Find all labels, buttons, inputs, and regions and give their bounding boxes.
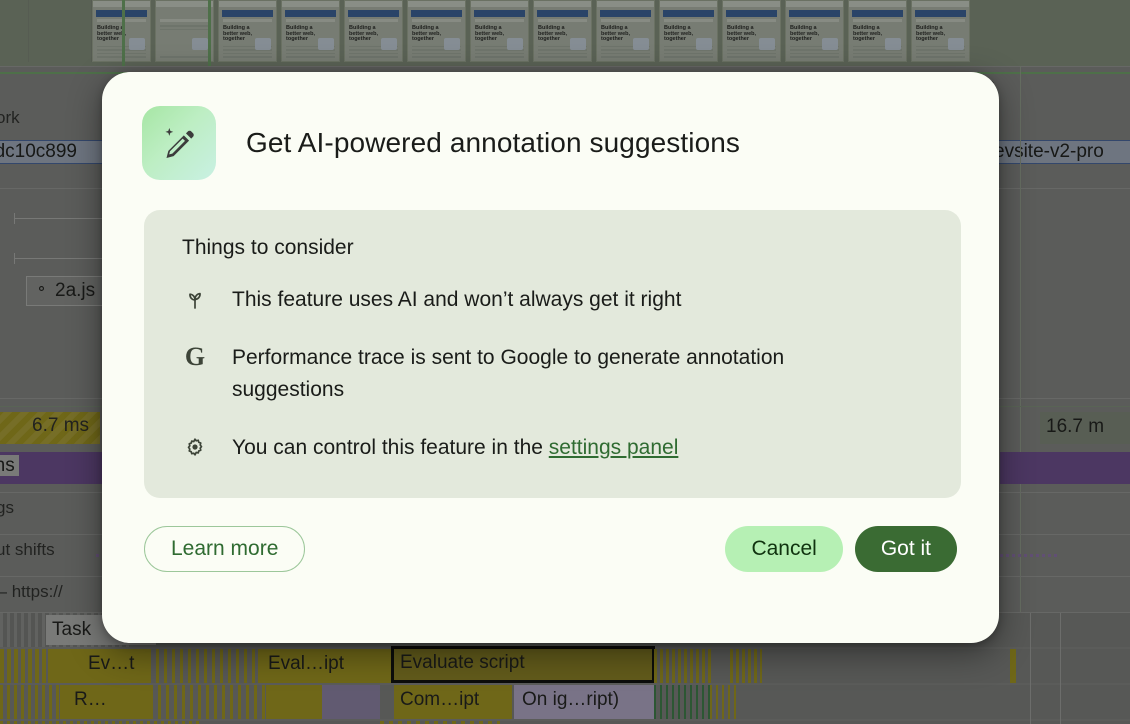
thumb-footer: [223, 56, 272, 58]
filmstrip-thumbnail[interactable]: Building a better web, together: [911, 0, 970, 62]
thumb-hero-bar: [852, 10, 903, 17]
filmstrip-thumbnail[interactable]: Building a better web, together: [785, 0, 844, 62]
thumb-image: [444, 38, 460, 50]
network-request-row[interactable]: evsite-v2-pro: [988, 140, 1130, 164]
thumb-hero-bar: [600, 10, 651, 17]
gear-icon: [34, 278, 49, 304]
filmstrip-marker: [208, 0, 211, 66]
thumb-image: [696, 38, 712, 50]
flame-block-label: Eval…ipt: [258, 649, 378, 679]
dialog-title: Get AI-powered annotation suggestions: [246, 127, 740, 159]
thumb-hero-bar: [285, 10, 336, 17]
consider-item-text: Performance trace is sent to Google to g…: [232, 342, 892, 406]
filmstrip-thumbnail[interactable]: Building a better web, together: [407, 0, 466, 62]
thumb-subbar: [349, 19, 398, 22]
filmstrip-pad: [29, 0, 92, 62]
flame-block-label: R…: [60, 685, 150, 715]
main-thread-url-label: — https://: [0, 582, 63, 602]
thumb-caption: Building a better web, together: [475, 26, 505, 43]
thumb-hero-bar: [663, 10, 714, 17]
animations-bar[interactable]: [1000, 452, 1130, 484]
flame-block-dense: [710, 685, 740, 719]
thumb-hero-bar: [789, 10, 840, 17]
flame-block-dense: [0, 649, 48, 683]
thumb-hero-bar: [726, 10, 777, 17]
thumb-caption: Building a better web, together: [790, 26, 820, 43]
screen: Building a better web, together Building…: [0, 0, 1130, 724]
thumb-footer: [538, 56, 587, 58]
ai-annotation-suggestions-dialog: Get AI-powered annotation suggestions Th…: [102, 72, 999, 643]
script-chip-label: 2a.js: [55, 278, 95, 304]
timings-ms-label: 6.7 ms: [32, 415, 89, 437]
thumb-browser-bar: [156, 1, 213, 8]
track-separator: [0, 66, 1130, 67]
thumb-caption: Building a better web, together: [538, 26, 568, 43]
timings-row-label: gs: [0, 498, 14, 518]
dialog-header: Get AI-powered annotation suggestions: [102, 72, 999, 180]
flame-block-dense: [266, 685, 322, 719]
thumb-subbar: [538, 19, 587, 22]
magic-pencil-icon: [142, 106, 216, 180]
consider-item-data-sent: G Performance trace is sent to Google to…: [182, 342, 931, 406]
thumb-image: [255, 38, 271, 50]
thumb-subbar: [412, 19, 461, 22]
thumb-browser-bar: [660, 1, 717, 8]
thumb-caption: Building a better web, together: [727, 26, 757, 43]
filmstrip-thumbnail[interactable]: Building a better web, together: [218, 0, 277, 62]
thumb-footer: [349, 56, 398, 58]
thumb-footer: [286, 56, 335, 58]
got-it-button[interactable]: Got it: [855, 526, 957, 572]
flame-block-dense: [0, 685, 60, 719]
thumb-subbar: [160, 19, 209, 22]
flame-block-dense: [148, 649, 258, 683]
flame-block-label: Com…ipt: [394, 685, 512, 715]
thumb-subbar: [853, 19, 902, 22]
thumb-image: [381, 38, 397, 50]
thumb-image: [507, 38, 523, 50]
gear-icon: [182, 434, 208, 460]
consider-item-settings: You can control this feature in the sett…: [182, 432, 931, 464]
thumb-caption: Building a better web, together: [286, 26, 316, 43]
thumb-subbar: [664, 19, 713, 22]
thumb-caption: Building a better web, together: [412, 26, 442, 43]
thumb-browser-bar: [345, 1, 402, 8]
flame-tick: [1030, 613, 1031, 724]
flame-block-label: Evaluate script: [394, 649, 652, 677]
filmstrip-thumbnail[interactable]: Building a better web, together: [659, 0, 718, 62]
thumb-caption: Building a better web, together: [664, 26, 694, 43]
thumb-footer: [412, 56, 461, 58]
flame-row[interactable]: R… Com…ipt On ig…ript): [0, 685, 1130, 719]
thumb-hero-bar: [411, 10, 462, 17]
thumb-image: [822, 38, 838, 50]
card-heading: Things to consider: [182, 236, 931, 260]
thumb-image: [885, 38, 901, 50]
thumb-subbar: [223, 19, 272, 22]
flame-block-label: Ev…t: [48, 649, 148, 679]
thumb-subbar: [790, 19, 839, 22]
thumb-footer: [727, 56, 776, 58]
animations-bar[interactable]: ations: [0, 452, 110, 484]
thumb-footer: [601, 56, 650, 58]
thumb-browser-bar: [786, 1, 843, 8]
consider-item-ai-accuracy: This feature uses AI and won’t always ge…: [182, 284, 931, 316]
script-chip[interactable]: 2a.js: [26, 276, 103, 306]
flame-block-dense: [654, 685, 710, 719]
thumb-hero-bar: [537, 10, 588, 17]
flame-block-com[interactable]: Com…ipt: [394, 685, 512, 719]
flame-row[interactable]: Ev…t Eval…ipt Evaluate script: [0, 649, 1130, 683]
thumb-browser-bar: [597, 1, 654, 8]
flame-block-dense: [654, 649, 714, 683]
settings-panel-link[interactable]: settings panel: [549, 436, 679, 459]
filmstrip-thumbnail[interactable]: Building a better web, together: [596, 0, 655, 62]
thumb-browser-bar: [912, 1, 969, 8]
thumb-subbar: [727, 19, 776, 22]
thumb-caption: Building a better web, together: [601, 26, 631, 43]
flame-block-dense: [150, 685, 266, 719]
thumb-footer: [790, 56, 839, 58]
sprout-icon: [182, 286, 208, 312]
thumb-subbar: [475, 19, 524, 22]
thumb-footer: [475, 56, 524, 58]
filmstrip-thumbnail[interactable]: Building a better web, together: [533, 0, 592, 62]
thumb-browser-bar: [282, 1, 339, 8]
animations-label: ations: [0, 455, 19, 476]
thumb-lines: [160, 25, 209, 30]
layout-shifts-label: ut shifts: [0, 540, 55, 560]
thumb-image: [318, 38, 334, 50]
thumb-caption: Building a better web, together: [853, 26, 883, 43]
thumb-image: [570, 38, 586, 50]
thumb-hero-bar: [222, 10, 273, 17]
thumb-browser-bar: [408, 1, 465, 8]
timings-duration-label: 16.7 m: [1040, 416, 1104, 437]
flame-block-purple[interactable]: [322, 685, 380, 719]
thumb-image: [129, 38, 145, 50]
flame-block-evt[interactable]: Ev…t: [48, 649, 148, 683]
flame-block-dense: [730, 649, 762, 683]
thumb-hero-bar: [159, 10, 210, 17]
thumb-browser-bar: [534, 1, 591, 8]
thumb-footer: [160, 56, 209, 58]
consider-item-text: This feature uses AI and won’t always ge…: [232, 284, 681, 316]
thumb-image: [633, 38, 649, 50]
thumb-image: [192, 38, 208, 50]
thumb-caption: Building a better web, together: [916, 26, 946, 43]
filmstrip-pad: [0, 0, 29, 62]
thumb-caption: Building a better web, together: [349, 26, 379, 43]
flame-block-r[interactable]: R…: [60, 685, 150, 719]
filmstrip-thumbnail[interactable]: Building a better web, together: [470, 0, 529, 62]
thumb-browser-bar: [471, 1, 528, 8]
timeline-vline: [1020, 66, 1021, 626]
thumb-browser-bar: [849, 1, 906, 8]
flame-block-eval1[interactable]: Eval…ipt: [258, 649, 378, 683]
thumb-footer: [916, 56, 965, 58]
dialog-actions: Learn more Cancel Got it: [102, 498, 999, 572]
filmstrip-thumbnail[interactable]: Building a better web, together: [848, 0, 907, 62]
thumb-image: [948, 38, 964, 50]
thumb-hero-bar: [348, 10, 399, 17]
things-to-consider-card: Things to consider This feature uses AI …: [144, 210, 961, 498]
layout-shift-markers: [1000, 554, 1060, 557]
google-g-icon: G: [182, 344, 208, 370]
flame-block-label: On ig…ript): [514, 685, 654, 715]
thumb-footer: [664, 56, 713, 58]
thumb-browser-bar: [219, 1, 276, 8]
thumb-subbar: [916, 19, 965, 22]
filmstrip-thumbnail[interactable]: [155, 0, 214, 62]
network-track-label: ork: [0, 108, 20, 128]
learn-more-button[interactable]: Learn more: [144, 526, 305, 572]
thumb-image: [759, 38, 775, 50]
cancel-button[interactable]: Cancel: [725, 526, 842, 572]
flame-tick: [1060, 613, 1061, 724]
network-request-name: 5dc10c899: [0, 141, 77, 162]
filmstrip-track[interactable]: Building a better web, together Building…: [0, 0, 1130, 66]
thumb-footer: [853, 56, 902, 58]
flame-block-dense: [378, 649, 394, 683]
consider-item-text: You can control this feature in the sett…: [232, 432, 678, 464]
filmstrip-thumbnail[interactable]: Building a better web, together: [722, 0, 781, 62]
thumb-hero-bar: [915, 10, 966, 17]
thumb-caption: Building a better web, together: [223, 26, 253, 43]
consider-item-text-before: You can control this feature in the: [232, 436, 549, 459]
filmstrip-thumbnail[interactable]: Building a better web, together: [344, 0, 403, 62]
thumb-hero-bar: [474, 10, 525, 17]
network-request-name: evsite-v2-pro: [988, 141, 1104, 162]
filmstrip-thumbnail[interactable]: Building a better web, together: [281, 0, 340, 62]
thumb-browser-bar: [723, 1, 780, 8]
timings-duration-bar[interactable]: 16.7 m: [1040, 412, 1130, 444]
flame-block-onig[interactable]: On ig…ript): [514, 685, 654, 719]
thumb-subbar: [601, 19, 650, 22]
filmstrip-marker: [122, 0, 125, 66]
thumb-subbar: [286, 19, 335, 22]
flame-block-dense: [1010, 649, 1016, 683]
flame-block-evaluate-script-selected[interactable]: Evaluate script: [394, 649, 652, 680]
